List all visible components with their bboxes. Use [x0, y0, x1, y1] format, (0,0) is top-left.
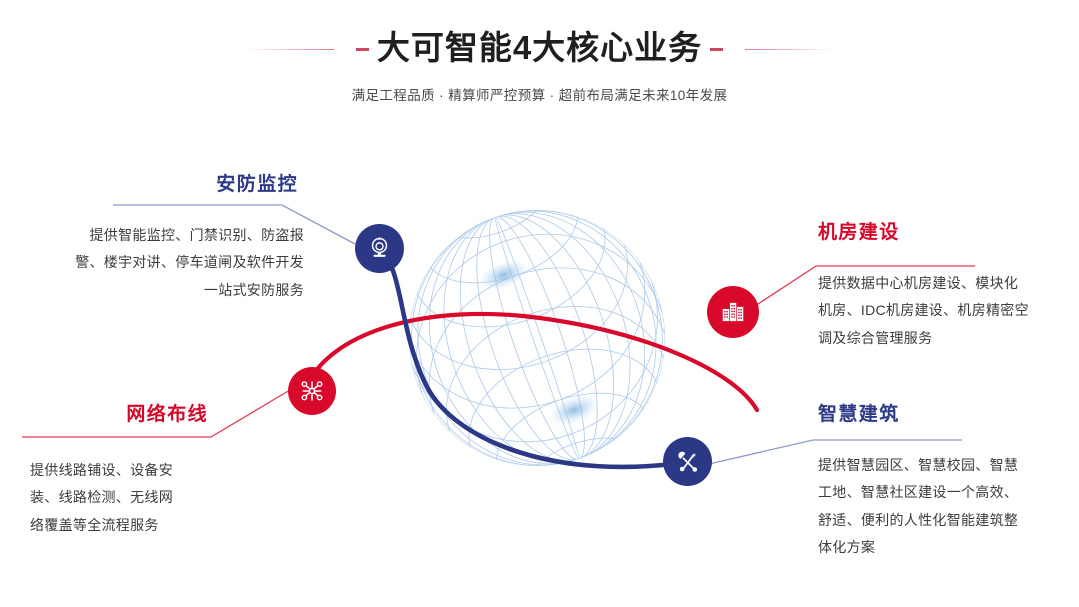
feature-heading-network: 网络布线: [0, 405, 240, 424]
globe-pole-glow: [475, 254, 603, 431]
feature-heading-security: 安防监控: [0, 175, 312, 194]
feature-body-smartbuilding: 提供智慧园区、智慧校园、智慧 工地、智慧社区建设一个高效、 舒适、便利的人性化智…: [818, 452, 1070, 561]
feature-body-datacenter: 提供数据中心机房建设、模块化 机房、IDC机房建设、机房精密空 调及综合管理服务: [818, 270, 1070, 352]
feature-body-line: 络覆盖等全流程服务: [30, 512, 240, 539]
page-title: 大可智能4大核心业务: [377, 31, 702, 64]
feature-body-line: 舒适、便利的人性化智能建筑整: [818, 507, 1070, 534]
title-rule-right: [745, 49, 833, 50]
feature-body-line: 提供线路铺设、设备安: [30, 457, 240, 484]
red-orbit-arc: [305, 314, 757, 410]
feature-body-line: 一站式安防服务: [0, 277, 304, 304]
feature-body-line: 体化方案: [818, 534, 1070, 561]
feature-heading-smartbuilding: 智慧建筑: [818, 405, 1070, 424]
feature-body-line: 提供智慧园区、智慧校园、智慧: [818, 452, 1070, 479]
feature-body-line: 机房、IDC机房建设、机房精密空: [818, 297, 1070, 324]
feature-body-line: 工地、智慧社区建设一个高效、: [818, 479, 1070, 506]
feature-block-smartbuilding: 智慧建筑 提供智慧园区、智慧校园、智慧 工地、智慧社区建设一个高效、 舒适、便利…: [818, 405, 1070, 561]
feature-body-security: 提供智能监控、门禁识别、防盗报 警、楼宇对讲、停车道闸及软件开发 一站式安防服务: [0, 222, 312, 304]
feature-body-line: 调及综合管理服务: [818, 325, 1070, 352]
badge-security[interactable]: [355, 224, 404, 273]
page-subtitle: 满足工程品质 · 精算师严控预算 · 超前布局满足未来10年发展: [0, 84, 1079, 104]
server-building-icon: [719, 298, 747, 326]
badge-network[interactable]: [288, 367, 336, 415]
page-header: 大可智能4大核心业务 满足工程品质 · 精算师严控预算 · 超前布局满足未来10…: [0, 22, 1079, 104]
title-row: 大可智能4大核心业务: [0, 22, 1079, 72]
feature-body-line: 提供智能监控、门禁识别、防盗报: [0, 222, 304, 249]
feature-block-datacenter: 机房建设 提供数据中心机房建设、模块化 机房、IDC机房建设、机房精密空 调及综…: [818, 223, 1070, 352]
feature-block-security: 安防监控 提供智能监控、门禁识别、防盗报 警、楼宇对讲、停车道闸及软件开发 一站…: [0, 175, 312, 304]
feature-block-network: 网络布线 提供线路铺设、设备安 装、线路检测、无线网 络覆盖等全流程服务: [0, 405, 240, 539]
network-nodes-icon: [299, 378, 325, 404]
security-camera-icon: [366, 235, 393, 262]
feature-body-line: 装、线路检测、无线网: [30, 484, 240, 511]
title-rule-left: [246, 49, 334, 50]
feature-body-line: 警、楼宇对讲、停车道闸及软件开发: [0, 249, 304, 276]
title-dash-left: [356, 48, 369, 51]
tools-icon: [675, 449, 701, 475]
title-dash-right: [710, 48, 723, 51]
wireframe-globe: [360, 135, 713, 542]
feature-heading-datacenter: 机房建设: [818, 223, 1070, 242]
badge-smartbuilding[interactable]: [663, 437, 712, 486]
badge-datacenter[interactable]: [707, 286, 759, 338]
navy-orbit-arc: [381, 248, 687, 467]
feature-body-network: 提供线路铺设、设备安 装、线路检测、无线网 络覆盖等全流程服务: [0, 457, 240, 539]
feature-body-line: 提供数据中心机房建设、模块化: [818, 270, 1070, 297]
